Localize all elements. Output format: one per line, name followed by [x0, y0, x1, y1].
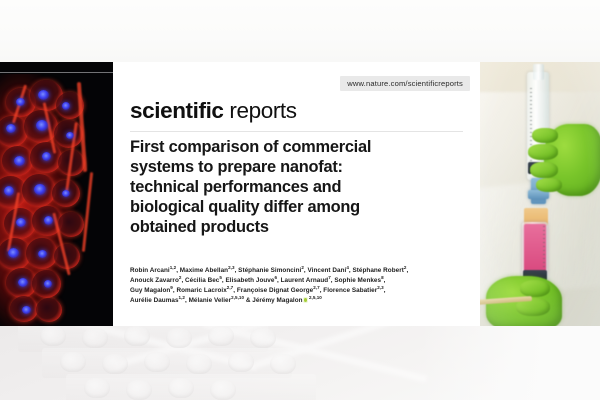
author-line-4: Aurélie Daumas1,2, Mélanie Velier2,5,10 … [130, 296, 468, 306]
author-list: Robin Arcani1,2, Maxime Abellan2,3, Stép… [130, 266, 468, 306]
bottom-background-band [0, 326, 600, 400]
corresponding-author-affiliations: 2,5,10 [309, 295, 322, 300]
masthead-divider [130, 131, 463, 132]
masthead-reports: reports [229, 98, 296, 123]
journal-url-banner: www.nature.com/scientificreports [340, 76, 470, 91]
title-line-2: systems to prepare nanofat: [130, 158, 460, 178]
top-background-band [0, 0, 600, 62]
bottom-fade [420, 326, 600, 400]
content-strip: www.nature.com/scientificreports scienti… [0, 62, 600, 326]
article-title: First comparison of commercial systems t… [130, 138, 460, 238]
author-line-2: Anouck Zavarro2, Cécilia Bec5, Elisabeth… [130, 276, 468, 286]
title-line-4: biological quality differ among [130, 198, 460, 218]
fluorescence-microscopy-image [0, 62, 113, 326]
syringe-photo [480, 62, 600, 326]
masthead-scientific: scientific [130, 98, 224, 123]
slide-canvas: www.nature.com/scientificreports scienti… [0, 0, 600, 400]
orcid-icon[interactable] [303, 297, 308, 302]
article-card: www.nature.com/scientificreports scienti… [113, 62, 480, 326]
title-line-5: obtained products [130, 218, 460, 238]
image-edge-line [0, 72, 113, 73]
title-line-1: First comparison of commercial [130, 138, 460, 158]
photo-vignette [480, 62, 600, 326]
title-line-3: technical performances and [130, 178, 460, 198]
journal-masthead: scientific reports [130, 100, 297, 123]
